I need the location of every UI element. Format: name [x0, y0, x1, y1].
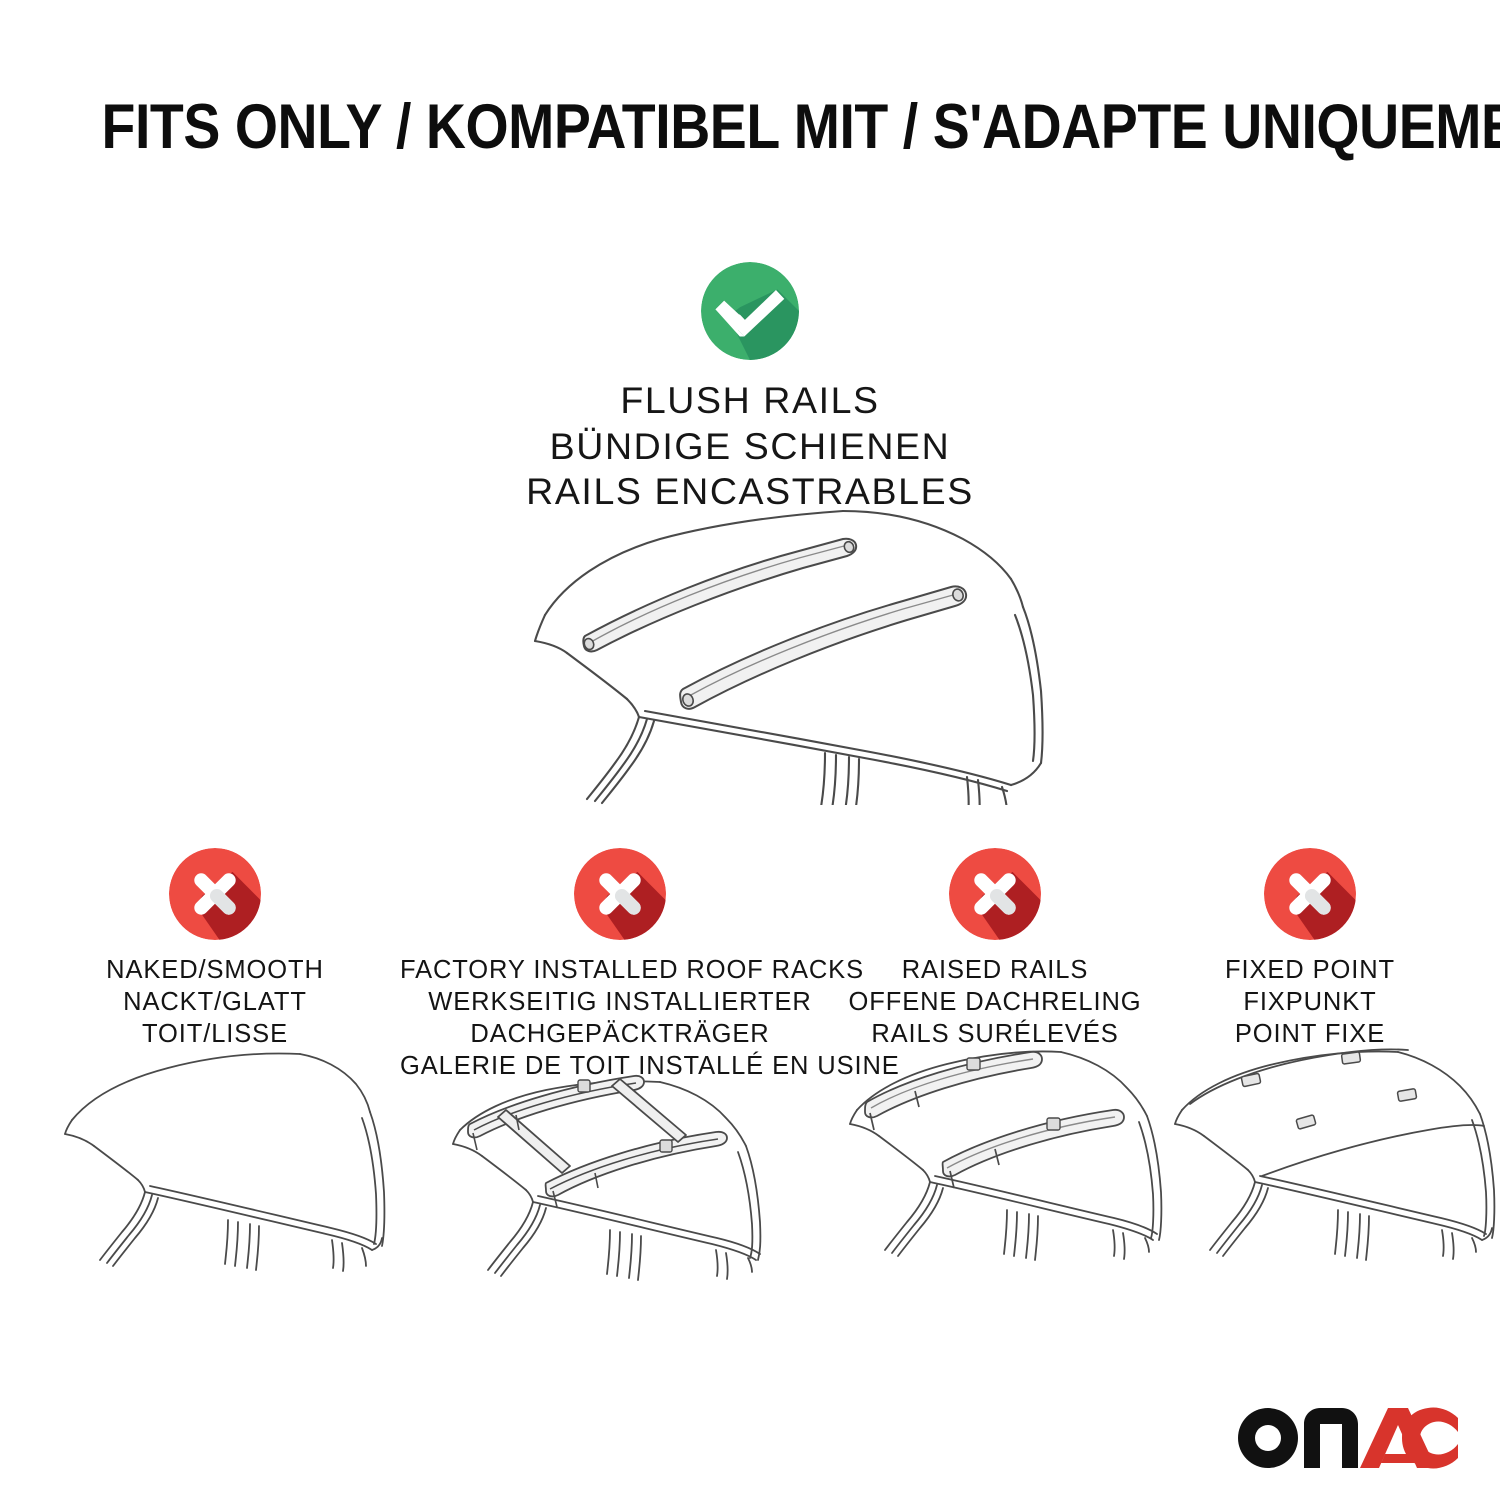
incompatible-labels: NAKED/SMOOTH NACKT/GLATT TOIT/LISSE: [55, 954, 375, 1050]
car-roof-raised-rails-illustration: [815, 1038, 1175, 1293]
logo-letter-m: [1304, 1408, 1358, 1468]
incompatible-label-en: NAKED/SMOOTH: [55, 954, 375, 986]
red-cross-circle-icon: [169, 848, 261, 940]
incompatible-column-raised-rails: RAISED RAILS OFFENE DACHRELING RAILS SUR…: [840, 848, 1150, 1050]
incompatible-label-en: RAISED RAILS: [840, 954, 1150, 986]
incompatible-label-de: OFFENE DACHRELING: [840, 986, 1150, 1018]
incompatible-label-de: NACKT/GLATT: [55, 986, 375, 1018]
page-header: FITS ONLY / KOMPATIBEL MIT / S'ADAPTE UN…: [0, 96, 1500, 159]
incompatible-labels: RAISED RAILS OFFENE DACHRELING RAILS SUR…: [840, 954, 1150, 1050]
compatible-label-de: BÜNDIGE SCHIENEN: [0, 424, 1500, 470]
red-cross-circle-icon: [574, 848, 666, 940]
incompatible-label-en: FACTORY INSTALLED ROOF RACKS: [400, 954, 840, 986]
compatible-label-en: FLUSH RAILS: [0, 378, 1500, 424]
incompatible-column-fixed-point: FIXED POINT FIXPUNKT POINT FIXE: [1165, 848, 1455, 1050]
compatible-section: FLUSH RAILS BÜNDIGE SCHIENEN RAILS ENCAS…: [0, 262, 1500, 515]
car-roof-fixed-point-illustration: [1170, 1038, 1500, 1293]
incompatible-label-de-1: WERKSEITIG INSTALLIERTER: [400, 986, 840, 1018]
incompatible-label-en: FIXED POINT: [1165, 954, 1455, 986]
car-roof-naked-smooth-illustration: [60, 1038, 390, 1293]
incompatible-labels: FIXED POINT FIXPUNKT POINT FIXE: [1165, 954, 1455, 1050]
incompatible-labels: FACTORY INSTALLED ROOF RACKS WERKSEITIG …: [400, 954, 840, 1082]
car-roof-factory-roof-racks-illustration: [420, 1070, 780, 1325]
page-title: FITS ONLY / KOMPATIBEL MIT / S'ADAPTE UN…: [102, 96, 1500, 159]
omac-logo: [1232, 1398, 1460, 1472]
red-cross-circle-icon: [1264, 848, 1356, 940]
green-check-circle-icon: [701, 262, 799, 360]
incompatible-label-de-2: DACHGEPÄCKTRÄGER: [400, 1018, 840, 1050]
red-cross-circle-icon: [949, 848, 1041, 940]
incompatible-section: NAKED/SMOOTH NACKT/GLATT TOIT/LISSE: [0, 848, 1500, 1488]
incompatible-column-factory-roof-racks: FACTORY INSTALLED ROOF RACKS WERKSEITIG …: [400, 848, 840, 1082]
car-roof-with-flush-rails-illustration: [455, 495, 1065, 805]
incompatible-column-naked-smooth: NAKED/SMOOTH NACKT/GLATT TOIT/LISSE: [55, 848, 375, 1050]
logo-letter-o: [1238, 1408, 1298, 1468]
incompatible-label-de: FIXPUNKT: [1165, 986, 1455, 1018]
logo-letter-c: [1402, 1407, 1458, 1468]
